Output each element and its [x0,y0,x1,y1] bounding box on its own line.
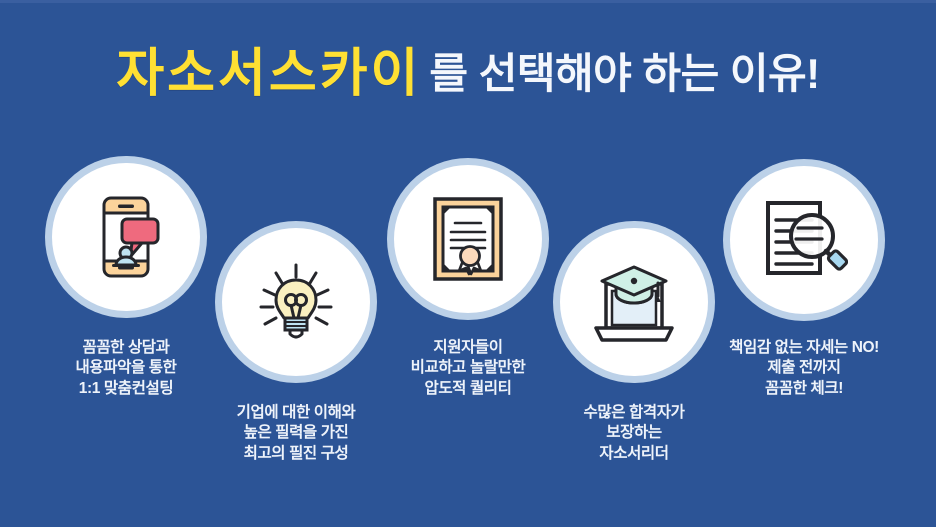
title-brand-text: 자소서스카이 [116,48,421,100]
caption-line: 압도적 퀄리티 [378,379,558,399]
lightbulb-icon [254,260,338,344]
feature-1-bubble [52,163,200,311]
feature-5-bubble [730,166,878,314]
promo-poster: 자소서스카이를 선택해야 하는 이유! 꼼꼼한 상담과 내용파악 [0,0,936,527]
title-rest-text: 를 선택해야 하는 이유! [429,53,819,95]
caption-line: 책임감 없는 자세는 NO! [702,338,906,358]
caption-line: 수많은 합격자가 [534,403,734,423]
feature-4-caption: 수많은 합격자가 보장하는 자소서리더 [534,403,734,464]
feature-2-bubble [222,228,370,376]
laptop-graduation-cap-icon [588,260,680,344]
feature-3-caption: 지원자들이 비교하고 놀랄만한 압도적 퀄리티 [378,338,558,399]
caption-line: 제출 전까지 [702,358,906,378]
caption-line: 지원자들이 [378,338,558,358]
caption-line: 비교하고 놀랄만한 [378,358,558,378]
feature-3-bubble [394,165,542,313]
caption-line: 자소서리더 [534,444,734,464]
smartphone-chat-icon [88,195,164,279]
caption-line: 최고의 필진 구성 [196,444,396,464]
caption-line: 꼼꼼한 체크! [702,379,906,399]
feature-5-caption: 책임감 없는 자세는 NO! 제출 전까지 꼼꼼한 체크! [702,338,906,399]
caption-line: 꼼꼼한 상담과 [36,338,216,358]
caption-line: 1:1 맞춤컨설팅 [36,379,216,399]
document-magnifier-icon [760,198,848,282]
caption-line: 내용파악을 통한 [36,358,216,378]
certificate-icon [431,196,505,282]
page-title: 자소서스카이를 선택해야 하는 이유! [0,48,936,100]
top-edge-strip [0,0,936,3]
caption-line: 보장하는 [534,423,734,443]
caption-line: 기업에 대한 이해와 [196,403,396,423]
feature-2-caption: 기업에 대한 이해와 높은 필력을 가진 최고의 필진 구성 [196,403,396,464]
caption-line: 높은 필력을 가진 [196,423,396,443]
feature-4-bubble [560,228,708,376]
feature-1-caption: 꼼꼼한 상담과 내용파악을 통한 1:1 맞춤컨설팅 [36,338,216,399]
